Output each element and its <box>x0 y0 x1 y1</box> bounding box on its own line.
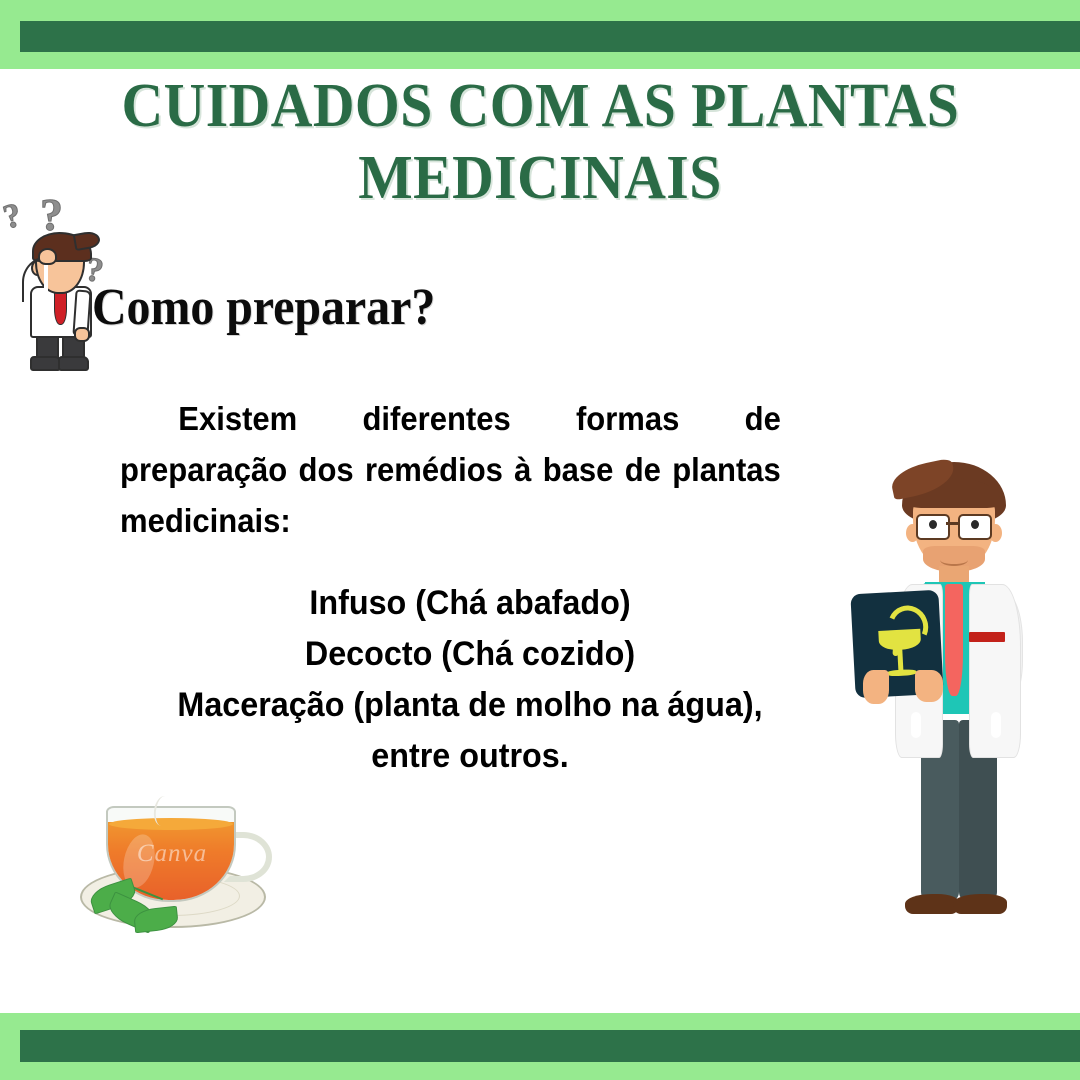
teacup-illustration: Canva <box>78 788 266 940</box>
thinking-man-hand-lowered <box>74 327 90 342</box>
doctor-shoe-left <box>905 894 959 914</box>
doctor-eye-left <box>929 520 937 529</box>
thinking-man-shoe-left <box>30 356 61 371</box>
list-item: Maceração (planta de molho na água), <box>119 680 822 731</box>
top-dark-green-bar <box>20 21 1080 52</box>
body-paragraph: Existem diferentes formas de preparação … <box>120 393 781 546</box>
doctor-mouth <box>940 554 968 566</box>
glasses-bridge-icon <box>946 522 958 525</box>
doctor-pharmacist-illustration <box>845 462 1060 940</box>
hygieia-base <box>886 669 916 677</box>
thinking-man-hand-raised <box>38 248 57 265</box>
doctor-tie <box>945 590 963 696</box>
slide-title: CUIDADOS COM AS PLANTAS MEDICINAIS <box>90 70 990 214</box>
title-line-1: CUIDADOS COM AS PLANTAS <box>122 70 959 142</box>
teacup-tea-surface <box>109 818 233 830</box>
doctor-coat-pocket-left <box>911 712 921 738</box>
title-line-2: MEDICINAIS <box>122 142 959 214</box>
doctor-hand-left <box>863 670 889 704</box>
thinking-man-hair-tuft <box>73 230 102 251</box>
doctor-shoe-right <box>953 894 1007 914</box>
hygieia-stem <box>897 648 903 672</box>
preparation-methods-list: Infuso (Chá abafado) Decocto (Chá cozido… <box>119 578 822 782</box>
doctor-tie-knot <box>945 584 963 596</box>
doctor-coat-pocket-right <box>991 712 1001 738</box>
bottom-dark-green-bar <box>20 1030 1080 1062</box>
list-item: Decocto (Chá cozido) <box>119 629 822 680</box>
question-mark-icon: ? <box>0 198 25 235</box>
section-heading-como-preparar: Como preparar? <box>92 280 435 336</box>
slide-canvas: CUIDADOS COM AS PLANTAS MEDICINAIS ? ? ?… <box>0 0 1080 1080</box>
thinking-man-tie <box>54 289 67 325</box>
canva-watermark: Canva <box>114 840 230 868</box>
doctor-eye-right <box>971 520 979 529</box>
thinking-man-shoe-right <box>58 356 89 371</box>
list-item: Infuso (Chá abafado) <box>119 578 822 629</box>
list-item: entre outros. <box>119 731 822 782</box>
paragraph-text: Existem diferentes formas de preparação … <box>120 400 781 539</box>
doctor-name-badge <box>969 632 1005 642</box>
doctor-hand-right <box>915 670 943 702</box>
